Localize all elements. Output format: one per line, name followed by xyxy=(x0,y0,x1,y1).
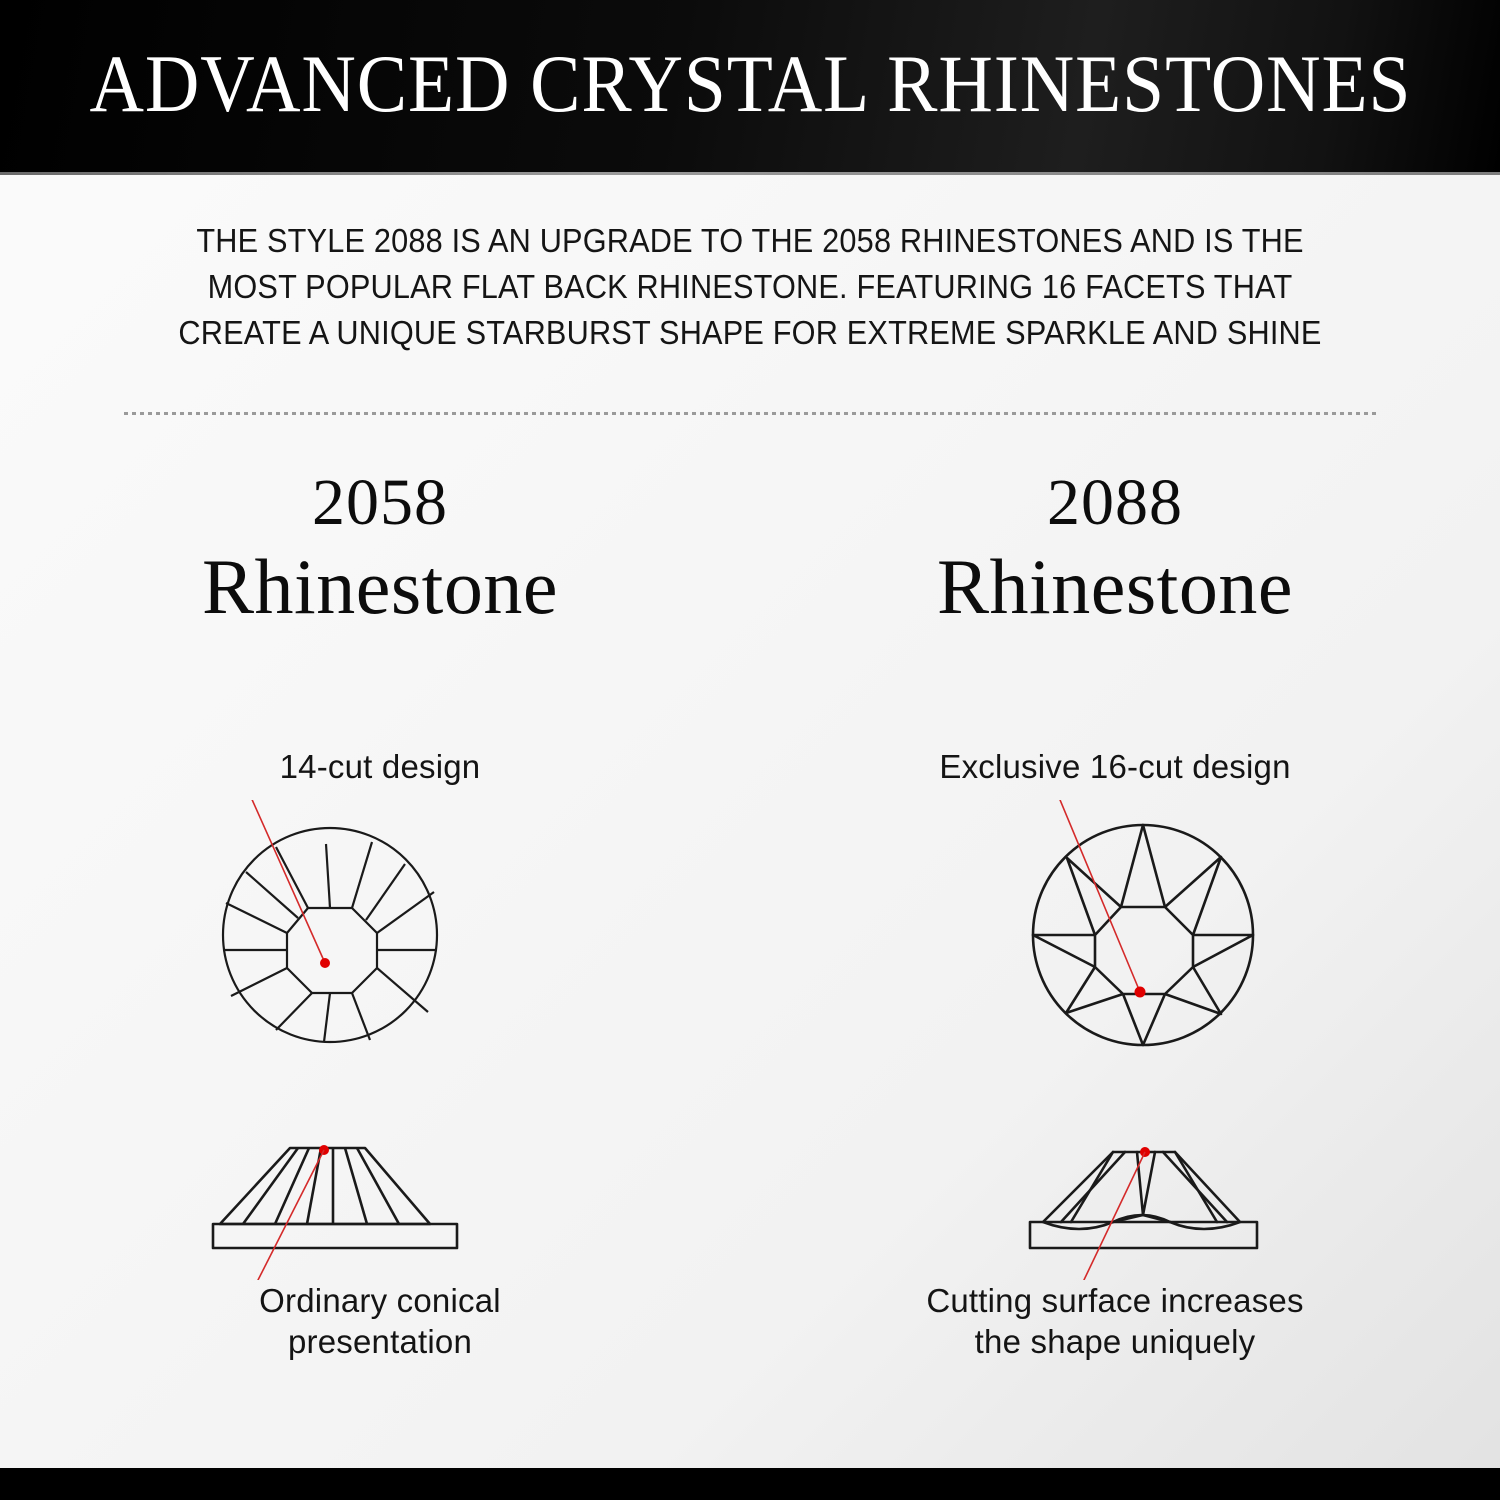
column-2088-number: 2088 xyxy=(755,470,1475,536)
base-slab-2058 xyxy=(213,1224,457,1248)
intro-line-3: CREATE A UNIQUE STARBURST SHAPE FOR EXTR… xyxy=(155,310,1345,356)
intro-line-2: MOST POPULAR FLAT BACK RHINESTONE. FEATU… xyxy=(155,264,1345,310)
column-2058-number: 2058 xyxy=(20,470,740,536)
caption-2088: Cutting surface increases the shape uniq… xyxy=(755,1280,1475,1362)
leader-line-2058-side xyxy=(257,1150,324,1280)
leader-line-2088-top xyxy=(1058,800,1140,992)
caption-2058-line-1: Ordinary conical xyxy=(20,1280,740,1321)
dotted-divider xyxy=(124,412,1376,415)
marker-dot-2088-top xyxy=(1135,987,1146,998)
column-2058-title: 2058 Rhinestone xyxy=(20,470,740,626)
page-title: ADVANCED CRYSTAL RHINESTONES xyxy=(89,43,1411,129)
caption-2058: Ordinary conical presentation xyxy=(20,1280,740,1362)
header-underline xyxy=(0,172,1500,175)
footer-bar xyxy=(0,1468,1500,1500)
infographic-page: ADVANCED CRYSTAL RHINESTONES THE STYLE 2… xyxy=(0,0,1500,1500)
caption-2058-line-2: presentation xyxy=(20,1321,740,1362)
caption-2088-line-2: the shape uniquely xyxy=(755,1321,1475,1362)
crystal-2088-top-view-diagram xyxy=(1010,800,1280,1050)
label-exclusive-16-cut-design: Exclusive 16-cut design xyxy=(755,748,1475,786)
table-octagon-2058 xyxy=(287,908,377,993)
crystal-2058-side-profile-diagram xyxy=(185,1130,485,1280)
facet-ridge-right-inner-2088 xyxy=(1163,1152,1227,1222)
column-2088-title: 2088 Rhinestone xyxy=(755,470,1475,626)
caption-2088-line-1: Cutting surface increases xyxy=(755,1280,1475,1321)
column-2088-word: Rhinestone xyxy=(755,548,1475,626)
column-2058-word: Rhinestone xyxy=(20,548,740,626)
label-14-cut-design: 14-cut design xyxy=(20,748,740,786)
facet-ridge-left-inner-2088 xyxy=(1061,1152,1125,1222)
starburst-points-2088 xyxy=(1033,825,1253,1045)
crystal-2058-top-view-diagram xyxy=(200,800,470,1050)
intro-paragraph: THE STYLE 2088 IS AN UPGRADE TO THE 2058… xyxy=(155,218,1345,356)
girdle-outline-2058 xyxy=(223,828,437,1042)
column-2058: 2058 Rhinestone xyxy=(20,470,740,626)
marker-dot-2058-top xyxy=(320,958,330,968)
crystal-2088-side-profile-diagram xyxy=(985,1130,1295,1280)
intro-line-1: THE STYLE 2088 IS AN UPGRADE TO THE 2058… xyxy=(155,218,1345,264)
column-2088: 2088 Rhinestone xyxy=(755,470,1475,626)
header-banner: ADVANCED CRYSTAL RHINESTONES xyxy=(0,0,1500,172)
